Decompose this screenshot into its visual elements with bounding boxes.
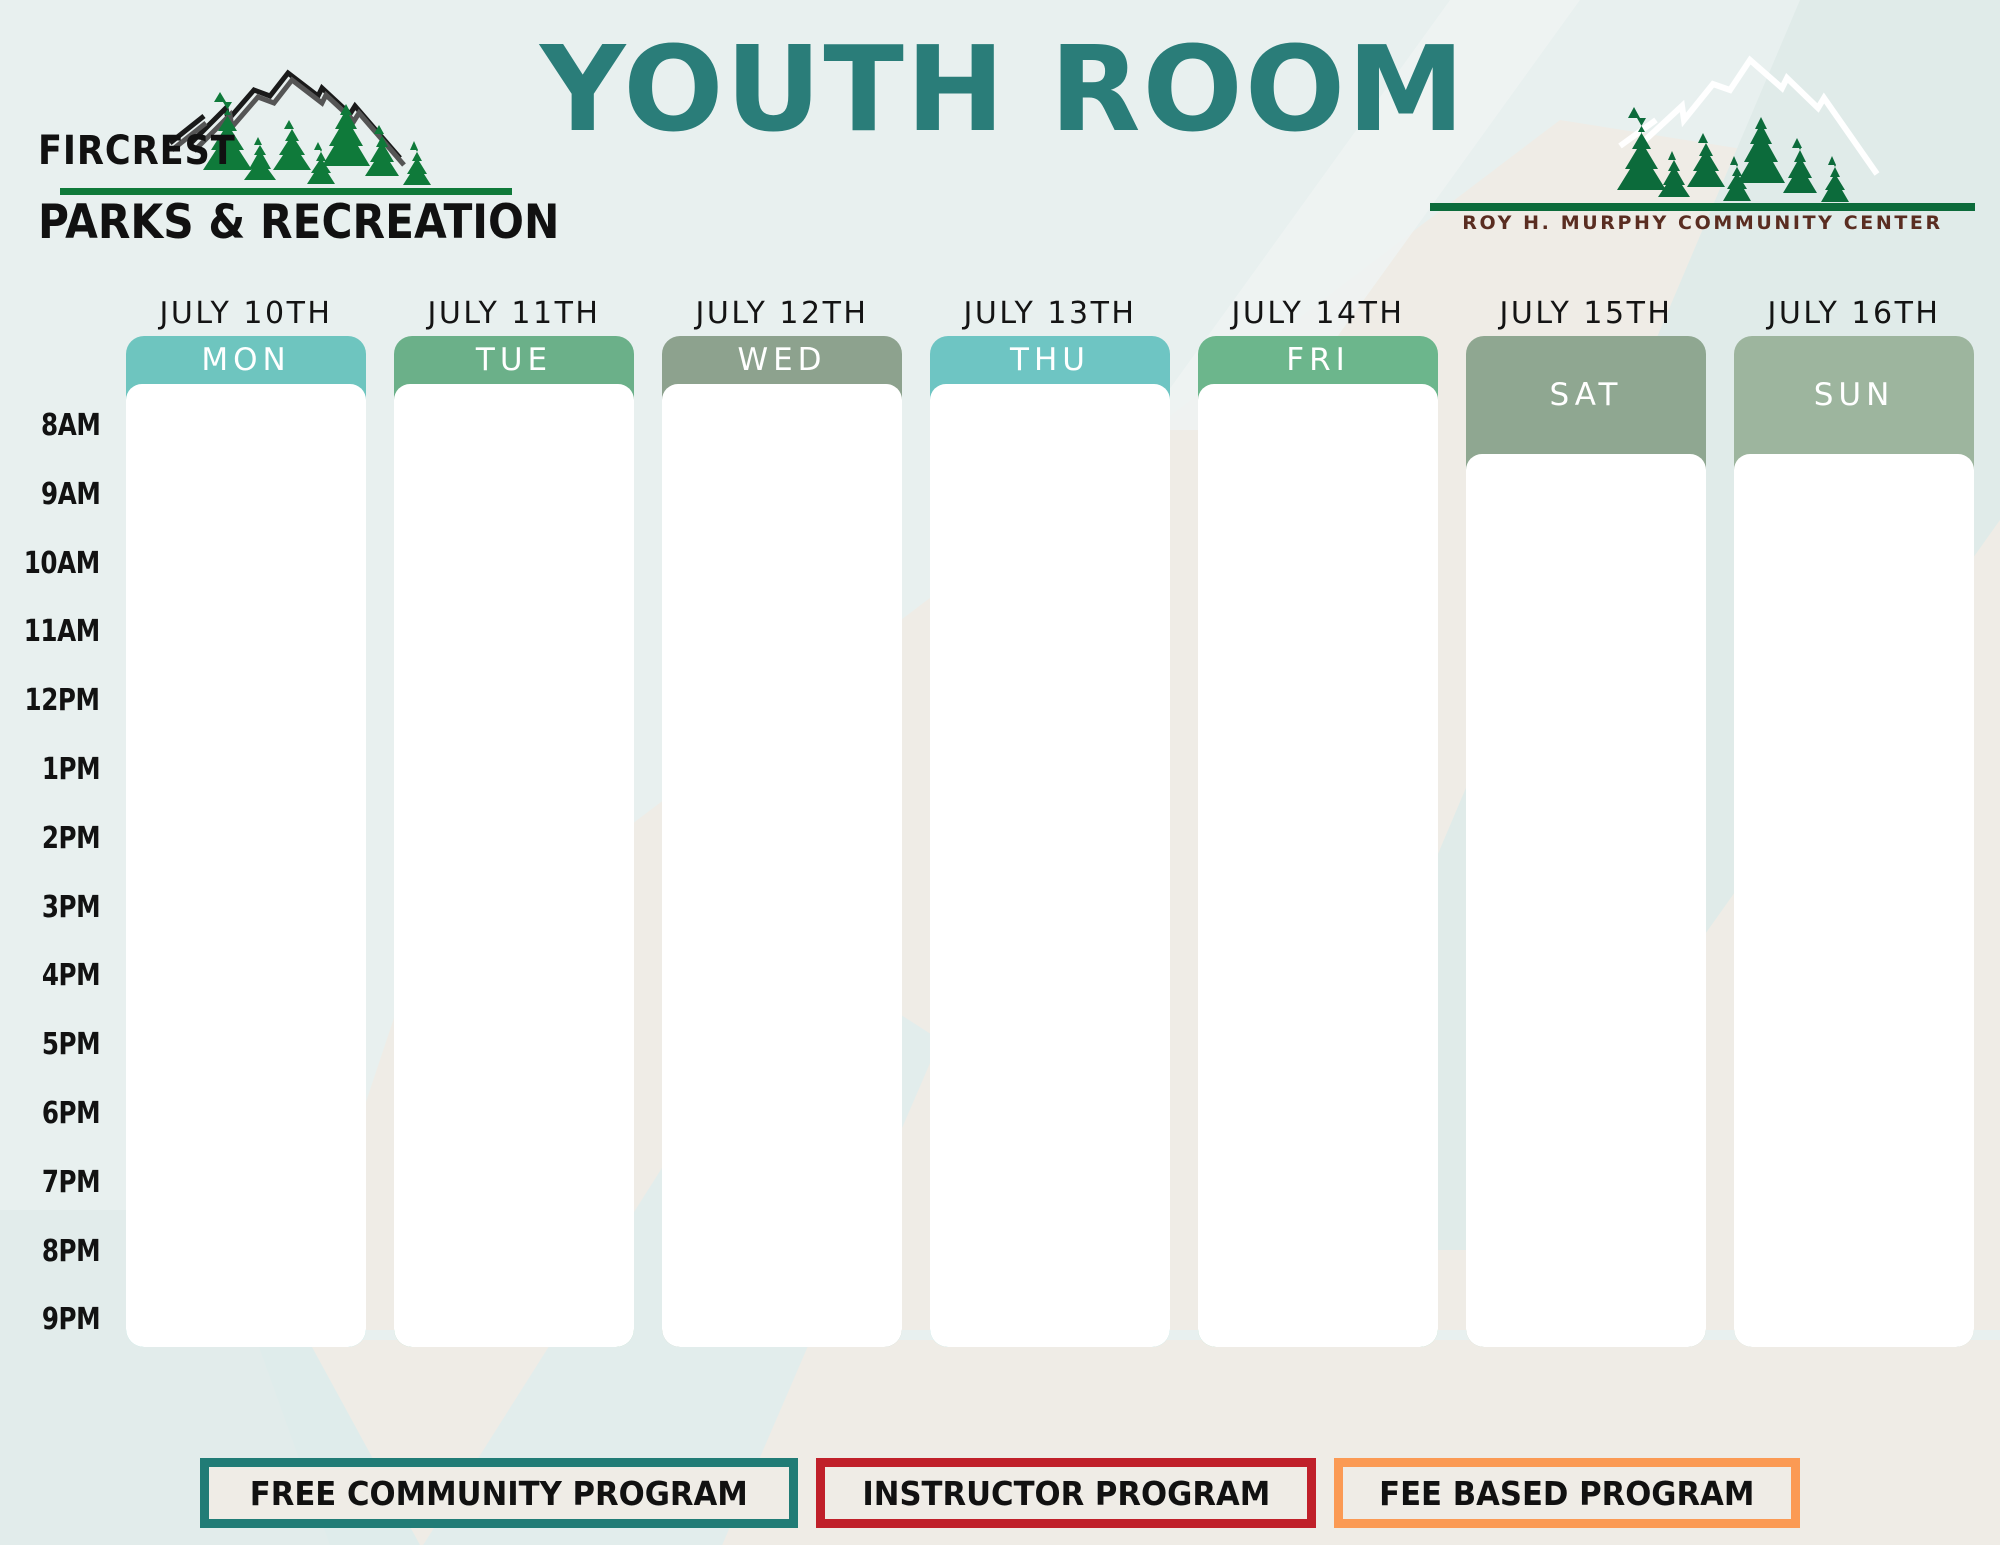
schedule-slot[interactable] [126, 1278, 366, 1347]
time-label: 4PM [42, 958, 100, 993]
time-slot: 9AM [0, 477, 112, 546]
time-slot: 7PM [0, 1165, 112, 1234]
schedule-slot[interactable] [662, 797, 902, 866]
schedule-slot[interactable] [662, 1003, 902, 1072]
schedule-slot[interactable] [930, 453, 1170, 522]
schedule-slot[interactable] [1734, 729, 1974, 798]
day-slot-area[interactable] [1198, 384, 1438, 1347]
schedule-slot[interactable] [930, 590, 1170, 659]
schedule-slot[interactable] [394, 453, 634, 522]
poster-header: FIRCREST PARKS & RECREATION YOUTH ROOM [0, 0, 2000, 225]
time-slot: 12PM [0, 683, 112, 752]
schedule-slot[interactable] [662, 1141, 902, 1210]
schedule-slot[interactable] [126, 590, 366, 659]
brand-right-caption: ROY H. MURPHY COMMUNITY CENTER [1430, 212, 1975, 234]
schedule-slot[interactable] [930, 1003, 1170, 1072]
schedule-slot[interactable] [930, 1141, 1170, 1210]
schedule-slot[interactable] [394, 1278, 634, 1347]
time-slot: 6PM [0, 1096, 112, 1165]
schedule-slot[interactable] [1466, 798, 1706, 867]
time-label: 8PM [42, 1234, 100, 1269]
schedule-slot[interactable] [394, 1141, 634, 1210]
schedule-slot[interactable] [930, 522, 1170, 591]
schedule-slot[interactable] [930, 384, 1170, 453]
schedule-slot[interactable] [662, 659, 902, 728]
day-card[interactable]: SUN [1734, 336, 1974, 1347]
page-title: YOUTH ROOM [540, 26, 1400, 153]
day-column-mon: JULY 10THMON [112, 292, 380, 1347]
schedule-slot[interactable] [1466, 729, 1706, 798]
schedule-slot[interactable] [1734, 1073, 1974, 1142]
schedule-slot[interactable] [394, 522, 634, 591]
time-slot: 5PM [0, 1027, 112, 1096]
schedule-slot[interactable] [1734, 1280, 1974, 1348]
time-label: 10AM [24, 546, 100, 581]
schedule-slot[interactable] [1198, 384, 1438, 453]
time-slot: 4PM [0, 958, 112, 1027]
schedule-slot[interactable] [394, 1072, 634, 1141]
day-card[interactable]: WED [662, 336, 902, 1347]
time-label: 8AM [41, 408, 100, 443]
day-column-thu: JULY 13THTHU [916, 292, 1184, 1347]
legend-item[interactable]: FREE COMMUNITY PROGRAM [200, 1458, 798, 1528]
schedule-slot[interactable] [126, 797, 366, 866]
schedule-slot[interactable] [662, 1210, 902, 1279]
schedule-slot[interactable] [394, 384, 634, 453]
day-date: JULY 14TH [1184, 292, 1452, 336]
schedule-slot[interactable] [126, 728, 366, 797]
day-card[interactable]: FRI [1198, 336, 1438, 1347]
schedule-slot[interactable] [1734, 1211, 1974, 1280]
day-column-sun: JULY 16THSUN [1720, 292, 1988, 1347]
schedule-slot[interactable] [1466, 1073, 1706, 1142]
schedule-slot[interactable] [126, 453, 366, 522]
schedule-slot[interactable] [662, 384, 902, 453]
legend-label: FEE BASED PROGRAM [1379, 1474, 1754, 1513]
schedule-slot[interactable] [930, 659, 1170, 728]
schedule-slot[interactable] [394, 728, 634, 797]
schedule-slot[interactable] [394, 659, 634, 728]
day-column-tue: JULY 11THTUE [380, 292, 648, 1347]
brand-left-line1: FIRCREST [38, 128, 236, 174]
schedule-slot[interactable] [126, 1072, 366, 1141]
schedule-slot[interactable] [662, 1278, 902, 1347]
schedule-slot[interactable] [1466, 1004, 1706, 1073]
schedule-slot[interactable] [1466, 1142, 1706, 1211]
day-slot-area[interactable] [1734, 454, 1974, 1347]
schedule-slot[interactable] [394, 590, 634, 659]
schedule-slot[interactable] [1734, 1142, 1974, 1211]
time-slot: 2PM [0, 821, 112, 890]
day-slot-area[interactable] [394, 384, 634, 1347]
schedule-slot[interactable] [1734, 798, 1974, 867]
day-name-header: THU [930, 336, 1170, 384]
day-slot-area[interactable] [930, 384, 1170, 1347]
schedule-slot[interactable] [1198, 866, 1438, 935]
schedule-slot[interactable] [1198, 1003, 1438, 1072]
schedule-poster: FIRCREST PARKS & RECREATION YOUTH ROOM [0, 0, 2000, 1545]
schedule-slot[interactable] [662, 453, 902, 522]
legend-label: FREE COMMUNITY PROGRAM [250, 1474, 748, 1513]
schedule-slot[interactable] [1198, 522, 1438, 591]
time-slot: 8AM [0, 408, 112, 477]
day-column-wed: JULY 12THWED [648, 292, 916, 1347]
schedule-slot[interactable] [1198, 934, 1438, 1003]
schedule-slot[interactable] [1466, 592, 1706, 661]
day-column-fri: JULY 14THFRI [1184, 292, 1452, 1347]
schedule-slot[interactable] [1198, 1141, 1438, 1210]
schedule-slot[interactable] [394, 866, 634, 935]
schedule-slot[interactable] [662, 1072, 902, 1141]
fircrest-parks-recreation-logo: FIRCREST PARKS & RECREATION [22, 20, 512, 230]
schedule-slot[interactable] [394, 934, 634, 1003]
day-card[interactable]: MON [126, 336, 366, 1347]
schedule-slot[interactable] [1198, 659, 1438, 728]
day-name-header: MON [126, 336, 366, 384]
schedule-slot[interactable] [1466, 454, 1706, 523]
time-slot: 3PM [0, 890, 112, 959]
time-label: 5PM [42, 1027, 100, 1062]
day-name-header: FRI [1198, 336, 1438, 384]
schedule-slot[interactable] [126, 522, 366, 591]
schedule-slot[interactable] [126, 659, 366, 728]
schedule-slot[interactable] [930, 1210, 1170, 1279]
day-slot-area[interactable] [1466, 454, 1706, 1347]
schedule-slot[interactable] [1198, 1072, 1438, 1141]
schedule-slot[interactable] [126, 866, 366, 935]
schedule-slot[interactable] [1198, 797, 1438, 866]
time-label: 3PM [42, 890, 100, 925]
schedule-slot[interactable] [394, 797, 634, 866]
time-label: 6PM [42, 1096, 100, 1131]
time-slot: 9PM [0, 1302, 112, 1371]
day-date: JULY 16TH [1720, 292, 1988, 336]
schedule-slot[interactable] [1466, 1211, 1706, 1280]
roy-murphy-community-center-logo [1430, 28, 1975, 233]
schedule-slot[interactable] [126, 1141, 366, 1210]
schedule-slot[interactable] [662, 866, 902, 935]
time-label: 12PM [25, 683, 100, 718]
schedule-slot[interactable] [930, 797, 1170, 866]
schedule-slot[interactable] [1466, 660, 1706, 729]
day-slot-area[interactable] [662, 384, 902, 1347]
schedule-slot[interactable] [126, 1003, 366, 1072]
calendar-grid: JULY 10THMONJULY 11THTUEJULY 12THWEDJULY… [112, 292, 1992, 1347]
day-name-header: WED [662, 336, 902, 384]
day-date: JULY 15TH [1452, 292, 1720, 336]
schedule-slot[interactable] [1198, 590, 1438, 659]
day-card[interactable]: SAT [1466, 336, 1706, 1347]
day-card[interactable]: THU [930, 336, 1170, 1347]
schedule-slot[interactable] [930, 1072, 1170, 1141]
schedule-slot[interactable] [394, 1003, 634, 1072]
time-label: 9AM [41, 477, 100, 512]
time-label: 7PM [42, 1165, 100, 1200]
day-name-header: SUN [1734, 336, 1974, 454]
day-column-sat: JULY 15THSAT [1452, 292, 1720, 1347]
time-label: 9PM [42, 1302, 100, 1337]
schedule-slot[interactable] [1198, 1210, 1438, 1279]
day-date: JULY 11TH [380, 292, 648, 336]
schedule-slot[interactable] [126, 934, 366, 1003]
schedule-slot[interactable] [1198, 1278, 1438, 1347]
schedule-slot[interactable] [662, 728, 902, 797]
schedule-slot[interactable] [930, 934, 1170, 1003]
schedule-slot[interactable] [662, 522, 902, 591]
day-date: JULY 10TH [112, 292, 380, 336]
day-card[interactable]: TUE [394, 336, 634, 1347]
time-slot: 11AM [0, 614, 112, 683]
schedule-slot[interactable] [1198, 453, 1438, 522]
day-date: JULY 13TH [916, 292, 1184, 336]
schedule-slot[interactable] [126, 384, 366, 453]
time-slot: 1PM [0, 752, 112, 821]
schedule-slot[interactable] [1734, 867, 1974, 936]
schedule-slot[interactable] [662, 590, 902, 659]
mountain-trees-icon [1430, 28, 1975, 233]
day-name-header: SAT [1466, 336, 1706, 454]
schedule-slot[interactable] [1466, 1280, 1706, 1348]
day-date: JULY 12TH [648, 292, 916, 336]
time-slot: 8PM [0, 1234, 112, 1303]
schedule-slot[interactable] [1466, 867, 1706, 936]
schedule-slot[interactable] [1466, 936, 1706, 1005]
schedule-slot[interactable] [1734, 523, 1974, 592]
schedule-slot[interactable] [662, 934, 902, 1003]
schedule-slot[interactable] [1734, 1004, 1974, 1073]
brand-left-line2: PARKS & RECREATION [38, 195, 559, 250]
time-label: 1PM [42, 752, 100, 787]
schedule-slot[interactable] [1734, 454, 1974, 523]
day-name-header: TUE [394, 336, 634, 384]
schedule-slot[interactable] [1734, 660, 1974, 729]
time-slot: 10AM [0, 546, 112, 615]
schedule-slot[interactable] [930, 728, 1170, 797]
legend-item[interactable]: FEE BASED PROGRAM [1334, 1458, 1800, 1528]
day-slot-area[interactable] [126, 384, 366, 1347]
schedule-slot[interactable] [1734, 592, 1974, 661]
schedule-slot[interactable] [394, 1210, 634, 1279]
legend: FREE COMMUNITY PROGRAMINSTRUCTOR PROGRAM… [0, 1458, 2000, 1528]
legend-item[interactable]: INSTRUCTOR PROGRAM [816, 1458, 1317, 1528]
schedule-slot[interactable] [1466, 523, 1706, 592]
schedule-slot[interactable] [930, 1278, 1170, 1347]
schedule-slot[interactable] [1198, 728, 1438, 797]
time-label: 2PM [42, 821, 100, 856]
time-label: 11AM [24, 614, 100, 649]
schedule-slot[interactable] [126, 1210, 366, 1279]
legend-label: INSTRUCTOR PROGRAM [862, 1474, 1270, 1513]
time-rail: 8AM9AM10AM11AM12PM1PM2PM3PM4PM5PM6PM7PM8… [0, 408, 112, 1371]
schedule-slot[interactable] [1734, 936, 1974, 1005]
schedule-slot[interactable] [930, 866, 1170, 935]
